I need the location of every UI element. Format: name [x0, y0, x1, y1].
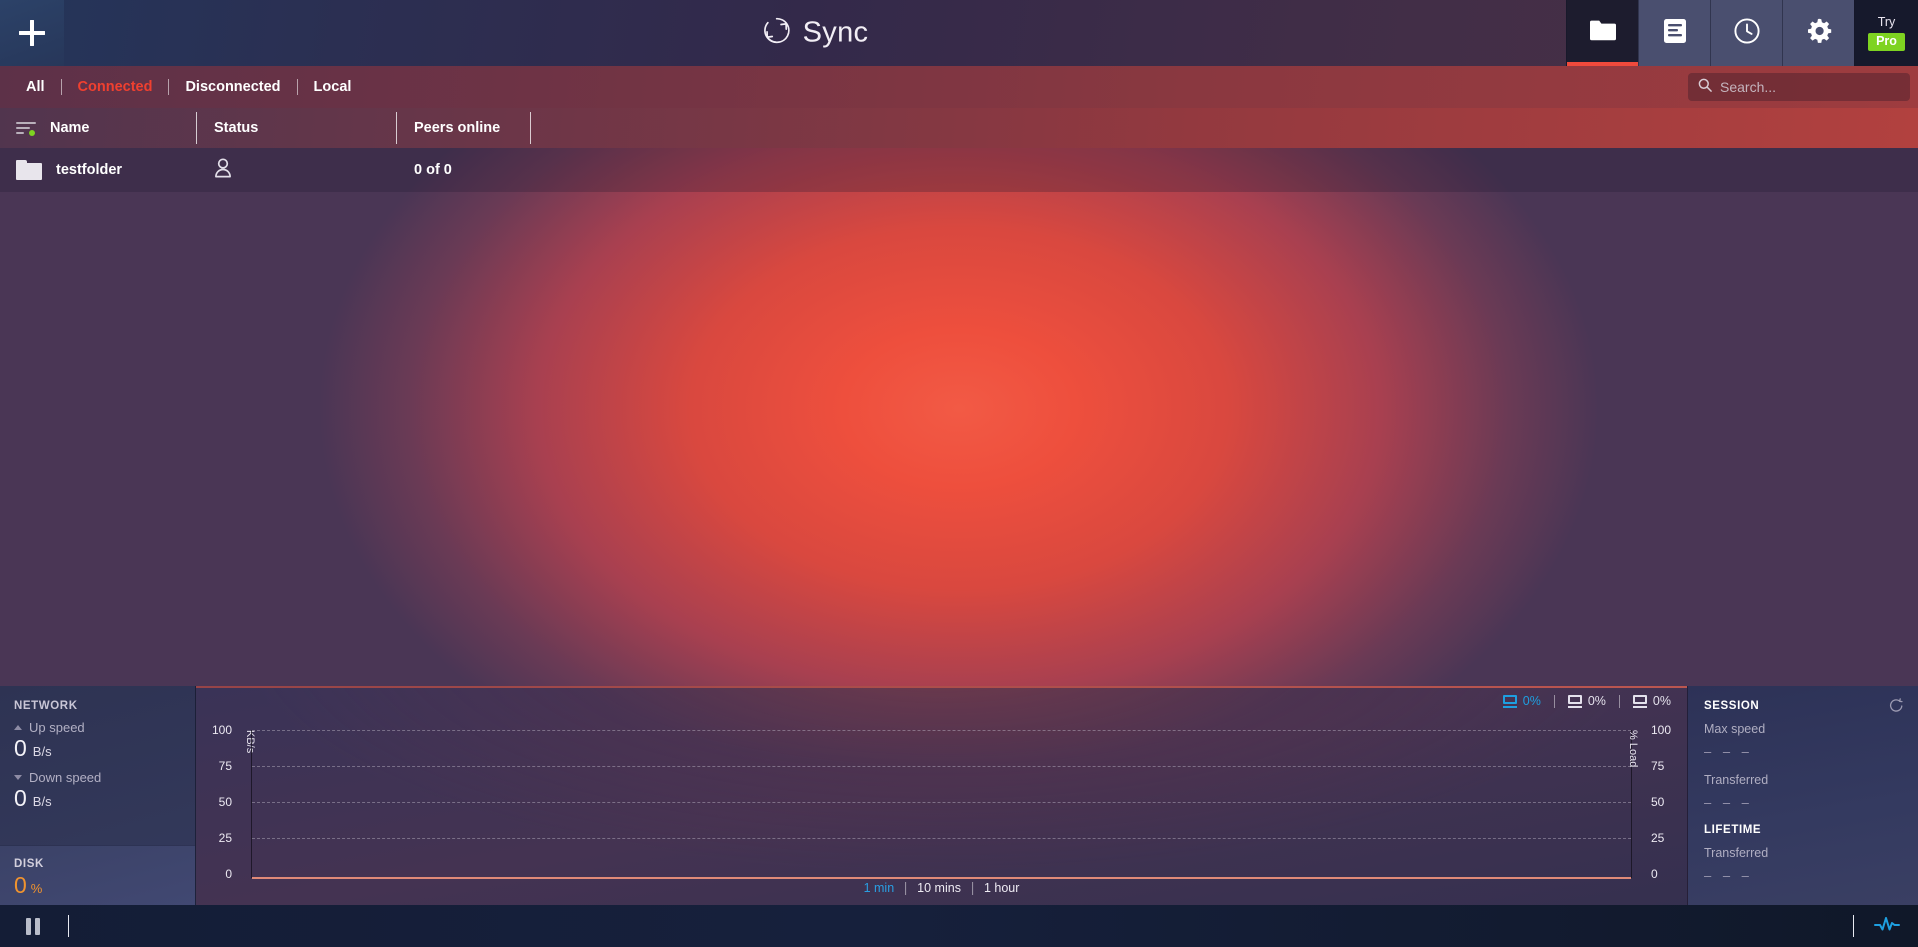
- cpu-legend-item-2[interactable]: 0%: [1568, 694, 1606, 708]
- gridline-25: [252, 838, 1631, 839]
- y-tick-left-0: 100: [212, 723, 232, 737]
- time-range-10mins[interactable]: 10 mins: [906, 881, 972, 895]
- cpu-legend-value-1: 0%: [1523, 694, 1541, 708]
- filter-disconnected[interactable]: Disconnected: [169, 79, 296, 95]
- gear-icon: [1806, 18, 1832, 49]
- folder-table-header: Name Status Peers online: [0, 108, 1918, 148]
- folder-icon: [16, 160, 42, 180]
- monitor-icon: [1568, 695, 1583, 708]
- session-transferred-value: – – –: [1704, 795, 1902, 810]
- gridline-50: [252, 802, 1631, 803]
- plus-icon: [19, 20, 45, 46]
- activity-toggle-button[interactable]: [1870, 912, 1904, 940]
- search-icon: [1698, 78, 1712, 97]
- status-bar-right: [1853, 912, 1918, 940]
- filter-bar: All Connected Disconnected Local: [0, 66, 1918, 108]
- lifetime-title: LIFETIME: [1704, 824, 1902, 836]
- lifetime-transferred-label: Transferred: [1704, 846, 1902, 860]
- time-range-1hour[interactable]: 1 hour: [973, 881, 1030, 895]
- network-graph-panel: 0% 0% 0% 100 75 50 25: [196, 686, 1688, 905]
- cell-status: [196, 158, 396, 183]
- y-tick-left-2: 50: [219, 795, 232, 809]
- disk-title: DISK: [14, 858, 181, 870]
- y-tick-right-1: 75: [1651, 759, 1664, 773]
- cell-folder-name: testfolder: [0, 160, 196, 180]
- network-chart: 100 75 50 25 0 KB/s % Load: [196, 686, 1687, 905]
- up-speed-label: Up speed: [29, 720, 85, 735]
- tab-settings[interactable]: [1782, 0, 1854, 66]
- header-center: Sync: [64, 0, 1566, 66]
- pause-button[interactable]: [12, 911, 54, 941]
- session-title: SESSION: [1704, 700, 1902, 712]
- folder-table-body: testfolder 0 of 0: [0, 148, 1918, 686]
- triangle-up-icon: [14, 725, 22, 730]
- status-bar-divider: [68, 915, 69, 937]
- down-speed-label-row: Down speed: [14, 770, 181, 785]
- time-range-1min[interactable]: 1 min: [853, 881, 906, 895]
- activity-pulse-icon: [1874, 915, 1900, 938]
- y-tick-right-4: 0: [1651, 867, 1658, 881]
- folder-icon: [1590, 20, 1616, 46]
- column-label-name: Name: [50, 120, 90, 136]
- filter-lines-icon[interactable]: [16, 121, 36, 135]
- y-axis-line-left: [251, 730, 252, 878]
- reset-arrow-icon[interactable]: [1889, 698, 1904, 718]
- status-bar-divider-right: [1853, 915, 1854, 937]
- app-header: Sync: [0, 0, 1918, 66]
- tab-folders[interactable]: [1566, 0, 1638, 66]
- cpu-legend-value-2: 0%: [1588, 694, 1606, 708]
- chart-series-line: [252, 877, 1631, 879]
- column-header-peers[interactable]: Peers online: [396, 108, 530, 148]
- y-tick-left-1: 75: [219, 759, 232, 773]
- try-pro-button[interactable]: Try Pro: [1854, 0, 1918, 66]
- column-header-status[interactable]: Status: [196, 108, 396, 148]
- cell-peers-online: 0 of 0: [396, 162, 530, 178]
- time-range-selector: 1 min 10 mins 1 hour: [853, 881, 1031, 895]
- legend-divider: [1619, 695, 1620, 708]
- column-label-peers: Peers online: [414, 120, 500, 136]
- y-tick-left-3: 25: [219, 831, 232, 845]
- session-max-speed-label: Max speed: [1704, 722, 1902, 736]
- network-panel: NETWORK Up speed 0 B/s Down speed 0 B/s: [0, 686, 196, 905]
- chart-y-axis-left: 100 75 50 25 0: [196, 686, 238, 905]
- search-input[interactable]: [1720, 79, 1901, 95]
- disk-unit: %: [31, 881, 43, 896]
- table-row[interactable]: testfolder 0 of 0: [0, 148, 1918, 192]
- cpu-legend-item-1[interactable]: 0%: [1503, 694, 1541, 708]
- clock-icon: [1734, 18, 1760, 49]
- y-axis-label-left: KB/s: [244, 730, 256, 753]
- gridline-75: [252, 766, 1631, 767]
- filter-all[interactable]: All: [10, 79, 61, 95]
- column-label-status: Status: [214, 120, 258, 136]
- brand-title: Sync: [803, 17, 869, 50]
- y-tick-right-2: 50: [1651, 795, 1664, 809]
- tab-history[interactable]: [1710, 0, 1782, 66]
- y-tick-left-4: 0: [225, 867, 232, 881]
- down-speed-value: 0: [14, 786, 27, 810]
- sync-circular-arrows-icon: [762, 16, 792, 51]
- search-box[interactable]: [1688, 73, 1910, 101]
- chart-y-axis-right: 100 75 50 25 0: [1645, 686, 1687, 905]
- filter-connected[interactable]: Connected: [62, 79, 169, 95]
- filter-group: All Connected Disconnected Local: [0, 79, 367, 95]
- up-speed-label-row: Up speed: [14, 720, 181, 735]
- up-speed-value-row: 0 B/s: [14, 736, 181, 760]
- monitor-icon: [1633, 695, 1648, 708]
- cpu-legend-item-3[interactable]: 0%: [1633, 694, 1671, 708]
- filter-local[interactable]: Local: [298, 79, 368, 95]
- column-header-name[interactable]: Name: [0, 108, 196, 148]
- up-speed-value: 0: [14, 736, 27, 760]
- legend-divider: [1554, 695, 1555, 708]
- monitor-icon: [1503, 695, 1518, 708]
- network-section: NETWORK Up speed 0 B/s Down speed 0 B/s: [0, 686, 195, 845]
- stats-strip: NETWORK Up speed 0 B/s Down speed 0 B/s: [0, 686, 1918, 905]
- cpu-legend-value-3: 0%: [1653, 694, 1671, 708]
- disk-value: 0: [14, 873, 27, 897]
- filter-active-dot: [29, 130, 35, 136]
- search-container: [1688, 73, 1910, 101]
- add-folder-button[interactable]: [0, 0, 64, 66]
- pause-icon: [26, 918, 40, 935]
- cpu-legend: 0% 0% 0%: [1503, 694, 1671, 708]
- column-header-spacer: [530, 108, 1918, 148]
- y-tick-right-0: 100: [1651, 723, 1671, 737]
- down-speed-label: Down speed: [29, 770, 101, 785]
- triangle-down-icon: [14, 775, 22, 780]
- person-icon: [214, 158, 232, 183]
- network-title: NETWORK: [14, 700, 181, 712]
- y-axis-label-right: % Load: [1627, 730, 1639, 767]
- session-max-speed-value: – – –: [1704, 744, 1902, 759]
- try-label: Try: [1878, 15, 1896, 29]
- tab-devices[interactable]: [1638, 0, 1710, 66]
- down-speed-value-row: 0 B/s: [14, 786, 181, 810]
- app-brand: Sync: [762, 16, 869, 51]
- status-bar: [0, 905, 1918, 947]
- disk-panel: DISK 0 %: [0, 845, 195, 905]
- down-speed-unit: B/s: [33, 794, 52, 809]
- header-nav-tabs: Try Pro: [1566, 0, 1918, 66]
- session-transferred-label: Transferred: [1704, 773, 1902, 787]
- y-tick-right-3: 25: [1651, 831, 1664, 845]
- lifetime-transferred-value: – – –: [1704, 868, 1902, 883]
- session-panel: SESSION Max speed – – – Transferred – – …: [1688, 686, 1918, 905]
- gridline-100: [252, 730, 1631, 731]
- folder-name-label: testfolder: [56, 162, 122, 178]
- disk-value-row: 0 %: [14, 873, 181, 897]
- up-speed-unit: B/s: [33, 744, 52, 759]
- document-lines-icon: [1664, 19, 1686, 48]
- sync-app-window: Sync: [0, 0, 1918, 947]
- pro-badge: Pro: [1868, 33, 1905, 51]
